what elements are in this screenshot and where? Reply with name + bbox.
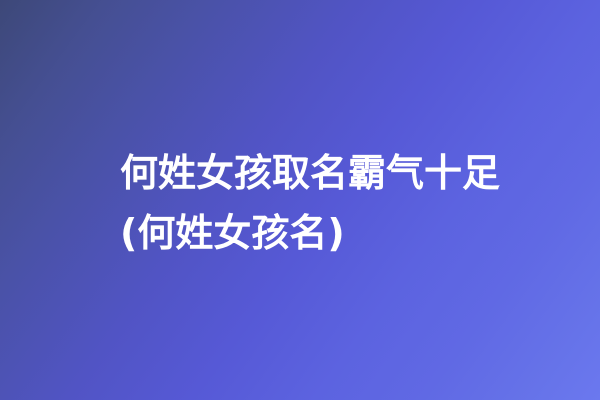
- page-title: 何姓女孩取名霸气十足(何姓女孩名): [120, 143, 520, 263]
- banner-background: 何姓女孩取名霸气十足(何姓女孩名): [0, 0, 600, 400]
